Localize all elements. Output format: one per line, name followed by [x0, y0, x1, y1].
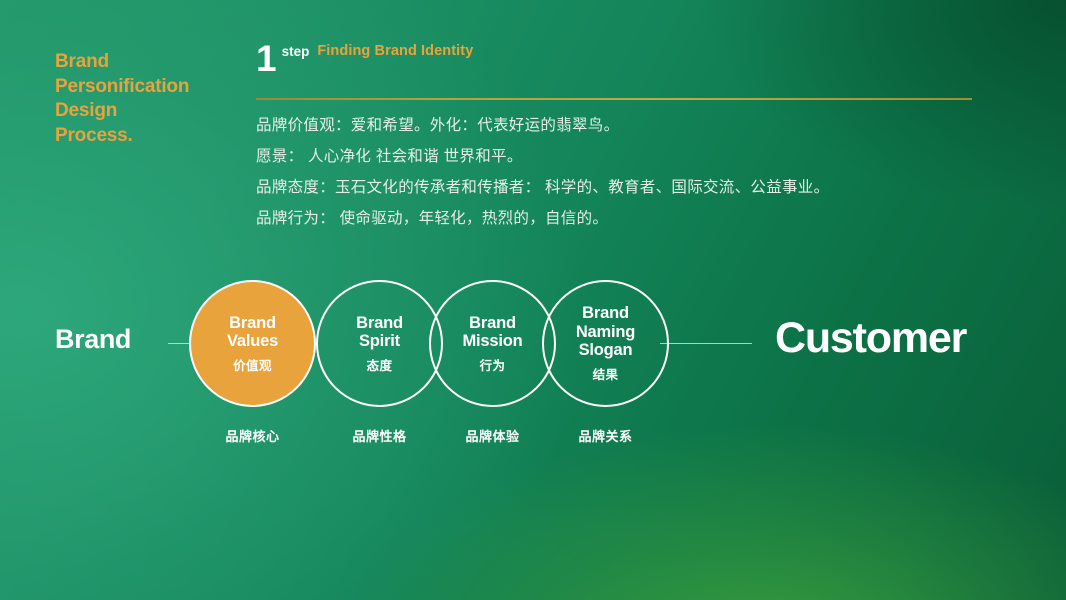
- node-circle-brand-spirit[interactable]: Brand Spirit 态度: [316, 280, 443, 407]
- node-circle-brand-values[interactable]: Brand Values 价值观: [189, 280, 316, 407]
- node-circle-brand-naming-slogan[interactable]: Brand Naming Slogan 结果: [542, 280, 669, 407]
- node-en-line-1: Brand: [229, 314, 276, 332]
- node-en-line-1: Brand: [582, 304, 629, 322]
- diagram-start-label: Brand: [55, 324, 131, 355]
- node-caption-brand-spirit: 品牌性格: [316, 426, 443, 445]
- node-en-line-1: Brand: [469, 314, 516, 332]
- diagram-end-label: Customer: [775, 314, 966, 363]
- node-zh-label: 行为: [480, 355, 506, 374]
- brand-journey-diagram: Brand Customer Brand Values 价值观 Brand Sp…: [0, 258, 1066, 458]
- node-zh-label: 价值观: [233, 355, 272, 374]
- body-line-1: 品牌价值观：爱和希望。外化：代表好运的翡翠鸟。: [256, 110, 829, 141]
- node-en-line-3: Slogan: [579, 341, 633, 359]
- node-zh-label: 结果: [593, 364, 619, 383]
- node-en-line-2: Naming: [576, 323, 635, 341]
- step-title: Finding Brand Identity: [317, 43, 473, 59]
- step-number: 1: [256, 42, 276, 76]
- node-en-label: Brand Spirit: [356, 314, 403, 351]
- node-en-label: Brand Naming Slogan: [576, 304, 635, 360]
- deck-title-line-1: Brand: [55, 50, 240, 75]
- body-line-4: 品牌行为： 使命驱动，年轻化，热烈的，自信的。: [256, 203, 829, 234]
- step-word-label: step: [282, 44, 310, 59]
- slide-canvas: Brand Personification Design Process. 1 …: [0, 0, 1066, 600]
- node-en-label: Brand Mission: [462, 314, 522, 351]
- node-zh-label: 态度: [367, 355, 393, 374]
- node-en-line-2: Spirit: [359, 332, 400, 350]
- deck-title-line-4: Process.: [55, 124, 240, 149]
- node-caption-brand-values: 品牌核心: [189, 426, 316, 445]
- node-circle-brand-mission[interactable]: Brand Mission 行为: [429, 280, 556, 407]
- node-en-line-2: Mission: [462, 332, 522, 350]
- deck-title: Brand Personification Design Process.: [55, 50, 240, 148]
- body-line-3: 品牌态度：玉石文化的传承者和传播者： 科学的、教育者、国际交流、公益事业。: [256, 172, 829, 203]
- node-caption-brand-mission: 品牌体验: [429, 426, 556, 445]
- node-en-line-1: Brand: [356, 314, 403, 332]
- step-header: 1 step Finding Brand Identity: [256, 40, 471, 74]
- node-en-line-2: Values: [227, 332, 278, 350]
- deck-title-line-3: Design: [55, 99, 240, 124]
- header-divider: [256, 98, 972, 100]
- body-line-2: 愿景： 人心净化 社会和谐 世界和平。: [256, 141, 829, 172]
- node-caption-brand-naming-slogan: 品牌关系: [542, 426, 669, 445]
- node-en-label: Brand Values: [227, 314, 278, 351]
- connector-line-right: [660, 343, 752, 344]
- deck-title-line-2: Personification: [55, 75, 240, 100]
- body-copy: 品牌价值观：爱和希望。外化：代表好运的翡翠鸟。 愿景： 人心净化 社会和谐 世界…: [256, 110, 829, 234]
